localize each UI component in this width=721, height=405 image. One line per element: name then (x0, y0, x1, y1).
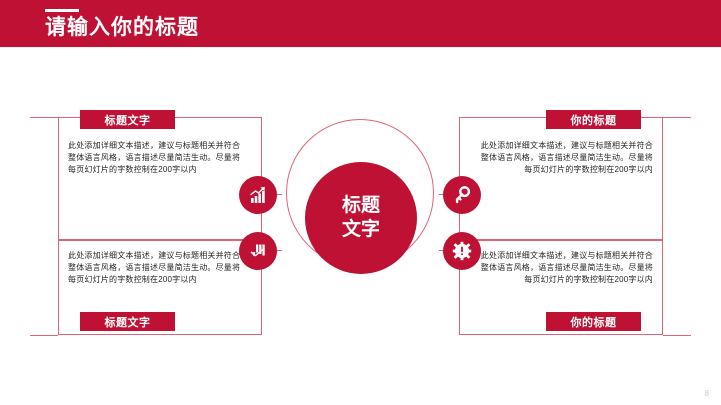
badge-bottom-left[interactable]: 标题文字 (80, 312, 175, 331)
connector-stub-outer-bottom-right (663, 335, 691, 336)
connector-frame-top-left (58, 117, 262, 240)
slide-canvas: 请输入你的标题 标题 文字 (0, 0, 721, 405)
body-text-bottom-left: 此处添加详细文本描述，建议与标题相关并符合整体语言风格，语言描述尽量简洁生动。尽… (68, 250, 244, 286)
gear-alert-icon (452, 241, 472, 261)
connector-stub-outer-top-left (30, 117, 58, 118)
bar-chart-up-icon (248, 185, 268, 205)
body-text-bottom-right: 此处添加详细文本描述，建议与标题相关并符合整体语言风格，语言描述尽量简洁生动。尽… (477, 250, 653, 286)
body-text-top-right: 此处添加详细文本描述，建议与标题相关并符合整体语言风格，语言描述尽量简洁生动。尽… (477, 140, 653, 176)
body-text-top-left: 此处添加详细文本描述，建议与标题相关并符合整体语言风格，语言描述尽量简洁生动。尽… (68, 140, 244, 176)
connector-stub-outer-bottom-left (30, 335, 58, 336)
center-circle: 标题 文字 (305, 162, 417, 274)
center-title-line-1: 标题 (342, 194, 380, 218)
page-title: 请输入你的标题 (45, 14, 199, 42)
badge-top-right[interactable]: 你的标题 (546, 110, 641, 129)
connector-frame-top-right (459, 117, 663, 240)
icon-bubble-top-right[interactable] (443, 176, 481, 214)
icon-bubble-bottom-left[interactable] (239, 232, 277, 270)
icon-bubble-bottom-right[interactable] (443, 232, 481, 270)
header-accent-dash (45, 9, 79, 12)
key-icon (452, 185, 472, 205)
center-title-line-2: 文字 (342, 218, 380, 242)
bar-chart-down-icon (248, 241, 268, 261)
connector-stub-outer-top-right (663, 117, 691, 118)
icon-bubble-top-left[interactable] (239, 176, 277, 214)
badge-top-left[interactable]: 标题文字 (80, 110, 175, 129)
badge-bottom-right[interactable]: 你的标题 (546, 312, 641, 331)
page-number: 8 (705, 389, 709, 399)
header-bottom-divider (0, 47, 721, 48)
